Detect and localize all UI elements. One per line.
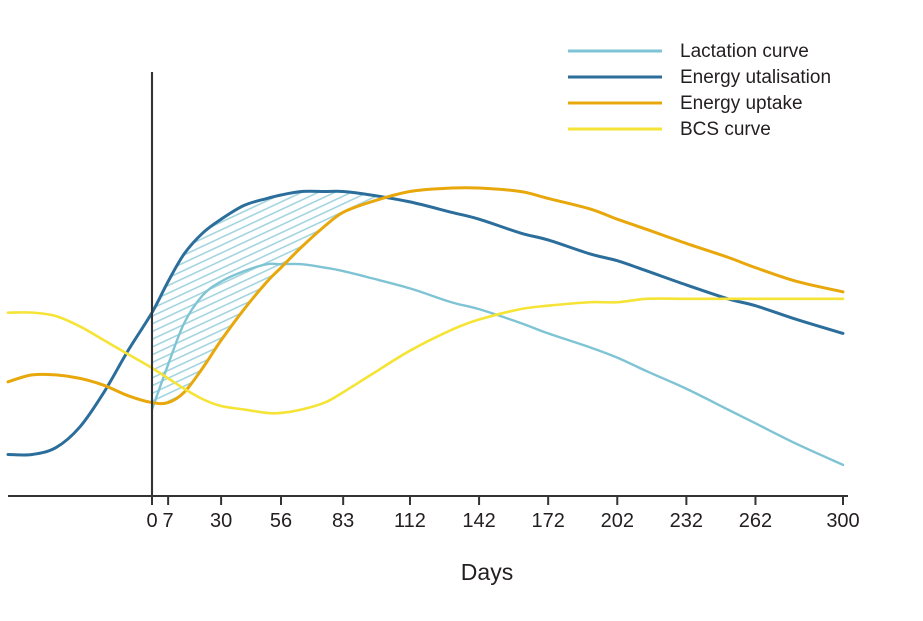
line-chart: 07305683112142172202232262300 Days Lacta… [0, 0, 923, 621]
chart-container: 07305683112142172202232262300 Days Lacta… [0, 0, 923, 621]
x-axis-tick-label: 142 [462, 510, 495, 532]
x-axis-tick-label: 7 [163, 510, 174, 532]
x-axis-tick-label: 0 [146, 510, 157, 532]
x-axis-tick-label: 83 [332, 510, 354, 532]
x-axis-title: Days [461, 559, 513, 585]
x-axis-tick-label: 262 [739, 510, 772, 532]
x-axis-tick-label: 172 [531, 510, 564, 532]
legend-label: Energy uptake [680, 93, 803, 114]
negative-energy-balance-area [152, 191, 387, 402]
chart-legend: Lactation curveEnergy utalisationEnergy … [568, 41, 831, 140]
x-axis-tick-label: 232 [670, 510, 703, 532]
series-line-energy-utalisation [8, 191, 843, 455]
x-axis-tick-label: 30 [210, 510, 232, 532]
x-axis-tick-label: 202 [601, 510, 634, 532]
legend-label: BCS curve [680, 119, 771, 140]
x-axis-ticks: 07305683112142172202232262300 [146, 496, 859, 532]
legend-label: Energy utalisation [680, 67, 831, 88]
x-axis-tick-label: 300 [826, 510, 859, 532]
legend-label: Lactation curve [680, 41, 809, 62]
x-axis-tick-label: 112 [394, 510, 426, 532]
x-axis-tick-label: 56 [270, 510, 292, 532]
